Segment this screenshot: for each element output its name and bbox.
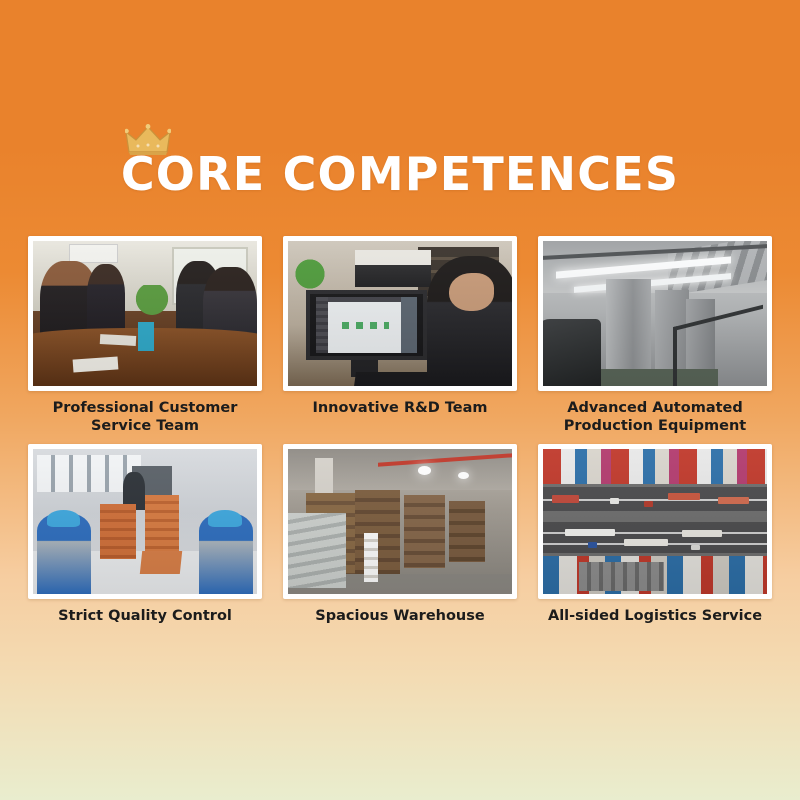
caption-line: Production Equipment — [538, 417, 772, 435]
vehicle-region — [691, 545, 700, 551]
cap-region — [47, 510, 80, 528]
pallet-stack-region — [449, 501, 485, 562]
box-stack-region — [145, 495, 179, 556]
card-caption: Innovative R&D Team — [283, 399, 517, 437]
box-stack-region — [100, 504, 136, 559]
caption-line: Spacious Warehouse — [283, 607, 517, 625]
photo-frame — [28, 444, 262, 599]
photo-frame — [283, 236, 517, 391]
page-title: CORE COMPETENCES — [121, 150, 679, 198]
label-strip-region — [364, 533, 377, 582]
press-unit-region — [606, 279, 651, 375]
truck-region — [718, 497, 749, 504]
vehicle-region — [588, 542, 597, 548]
cap-region — [208, 510, 241, 528]
printer-region — [355, 250, 431, 288]
office-meeting-photo — [33, 241, 257, 386]
caption-line: All-sided Logistics Service — [538, 607, 772, 625]
building-region — [579, 562, 664, 591]
card-caption: Spacious Warehouse — [283, 607, 517, 645]
card-caption: Professional Customer Service Team — [28, 399, 262, 437]
truck-region — [668, 493, 699, 500]
monitor-region — [306, 290, 427, 360]
worker-region — [37, 513, 91, 594]
grid-row-2: Strict Quality Control — [28, 444, 772, 645]
app-panel-region — [401, 297, 417, 352]
air-conditioner-region — [69, 244, 118, 263]
worker-region — [199, 513, 253, 594]
designer-at-monitor-photo — [288, 241, 512, 386]
screen-region — [316, 297, 418, 352]
caption-line: Strict Quality Control — [28, 607, 262, 625]
title-wrapper: CORE COMPETENCES — [121, 150, 679, 198]
press-unit-region — [543, 319, 601, 386]
warehouse-photo — [288, 449, 512, 594]
page-header: CORE COMPETENCES — [0, 150, 800, 198]
truck-region — [682, 530, 722, 537]
container-yard-region — [543, 449, 767, 484]
photo-frame — [28, 236, 262, 391]
competence-card[interactable]: All-sided Logistics Service — [538, 444, 772, 645]
competence-card[interactable]: Professional Customer Service Team — [28, 236, 262, 437]
competences-grid: Professional Customer Service Team — [28, 236, 772, 645]
quality-inspection-photo — [33, 449, 257, 594]
competence-card[interactable]: Spacious Warehouse — [283, 444, 517, 645]
card-caption: All-sided Logistics Service — [538, 607, 772, 645]
truck-region — [565, 529, 614, 536]
caption-line: Innovative R&D Team — [283, 399, 517, 417]
vehicle-region — [644, 501, 653, 507]
competence-card[interactable]: Advanced Automated Production Equipment — [538, 236, 772, 437]
competence-card[interactable]: Strict Quality Control — [28, 444, 262, 645]
pallet-stack-region — [404, 495, 444, 568]
truck-region — [624, 539, 669, 546]
person-region — [87, 264, 125, 331]
photo-frame — [538, 236, 772, 391]
photo-frame — [283, 444, 517, 599]
design-artwork-region — [342, 322, 389, 329]
road-region — [543, 522, 767, 554]
truck-region — [552, 495, 579, 502]
competence-card[interactable]: Innovative R&D Team — [283, 236, 517, 437]
vehicle-region — [610, 498, 619, 504]
caption-line: Professional Customer — [28, 399, 262, 417]
caption-line: Service Team — [28, 417, 262, 435]
caption-line: Advanced Automated — [538, 399, 772, 417]
grid-row-1: Professional Customer Service Team — [28, 236, 772, 437]
plant-region — [292, 258, 337, 290]
paper-region — [100, 334, 136, 346]
vase-region — [138, 322, 154, 351]
app-toolbar-region — [316, 297, 328, 352]
logistics-aerial-photo — [543, 449, 767, 594]
card-caption: Strict Quality Control — [28, 607, 262, 645]
face-region — [449, 273, 494, 311]
box-region — [139, 551, 182, 574]
card-caption: Advanced Automated Production Equipment — [538, 399, 772, 437]
printing-press-photo — [543, 241, 767, 386]
wrapped-goods-region — [288, 513, 346, 588]
photo-frame — [538, 444, 772, 599]
